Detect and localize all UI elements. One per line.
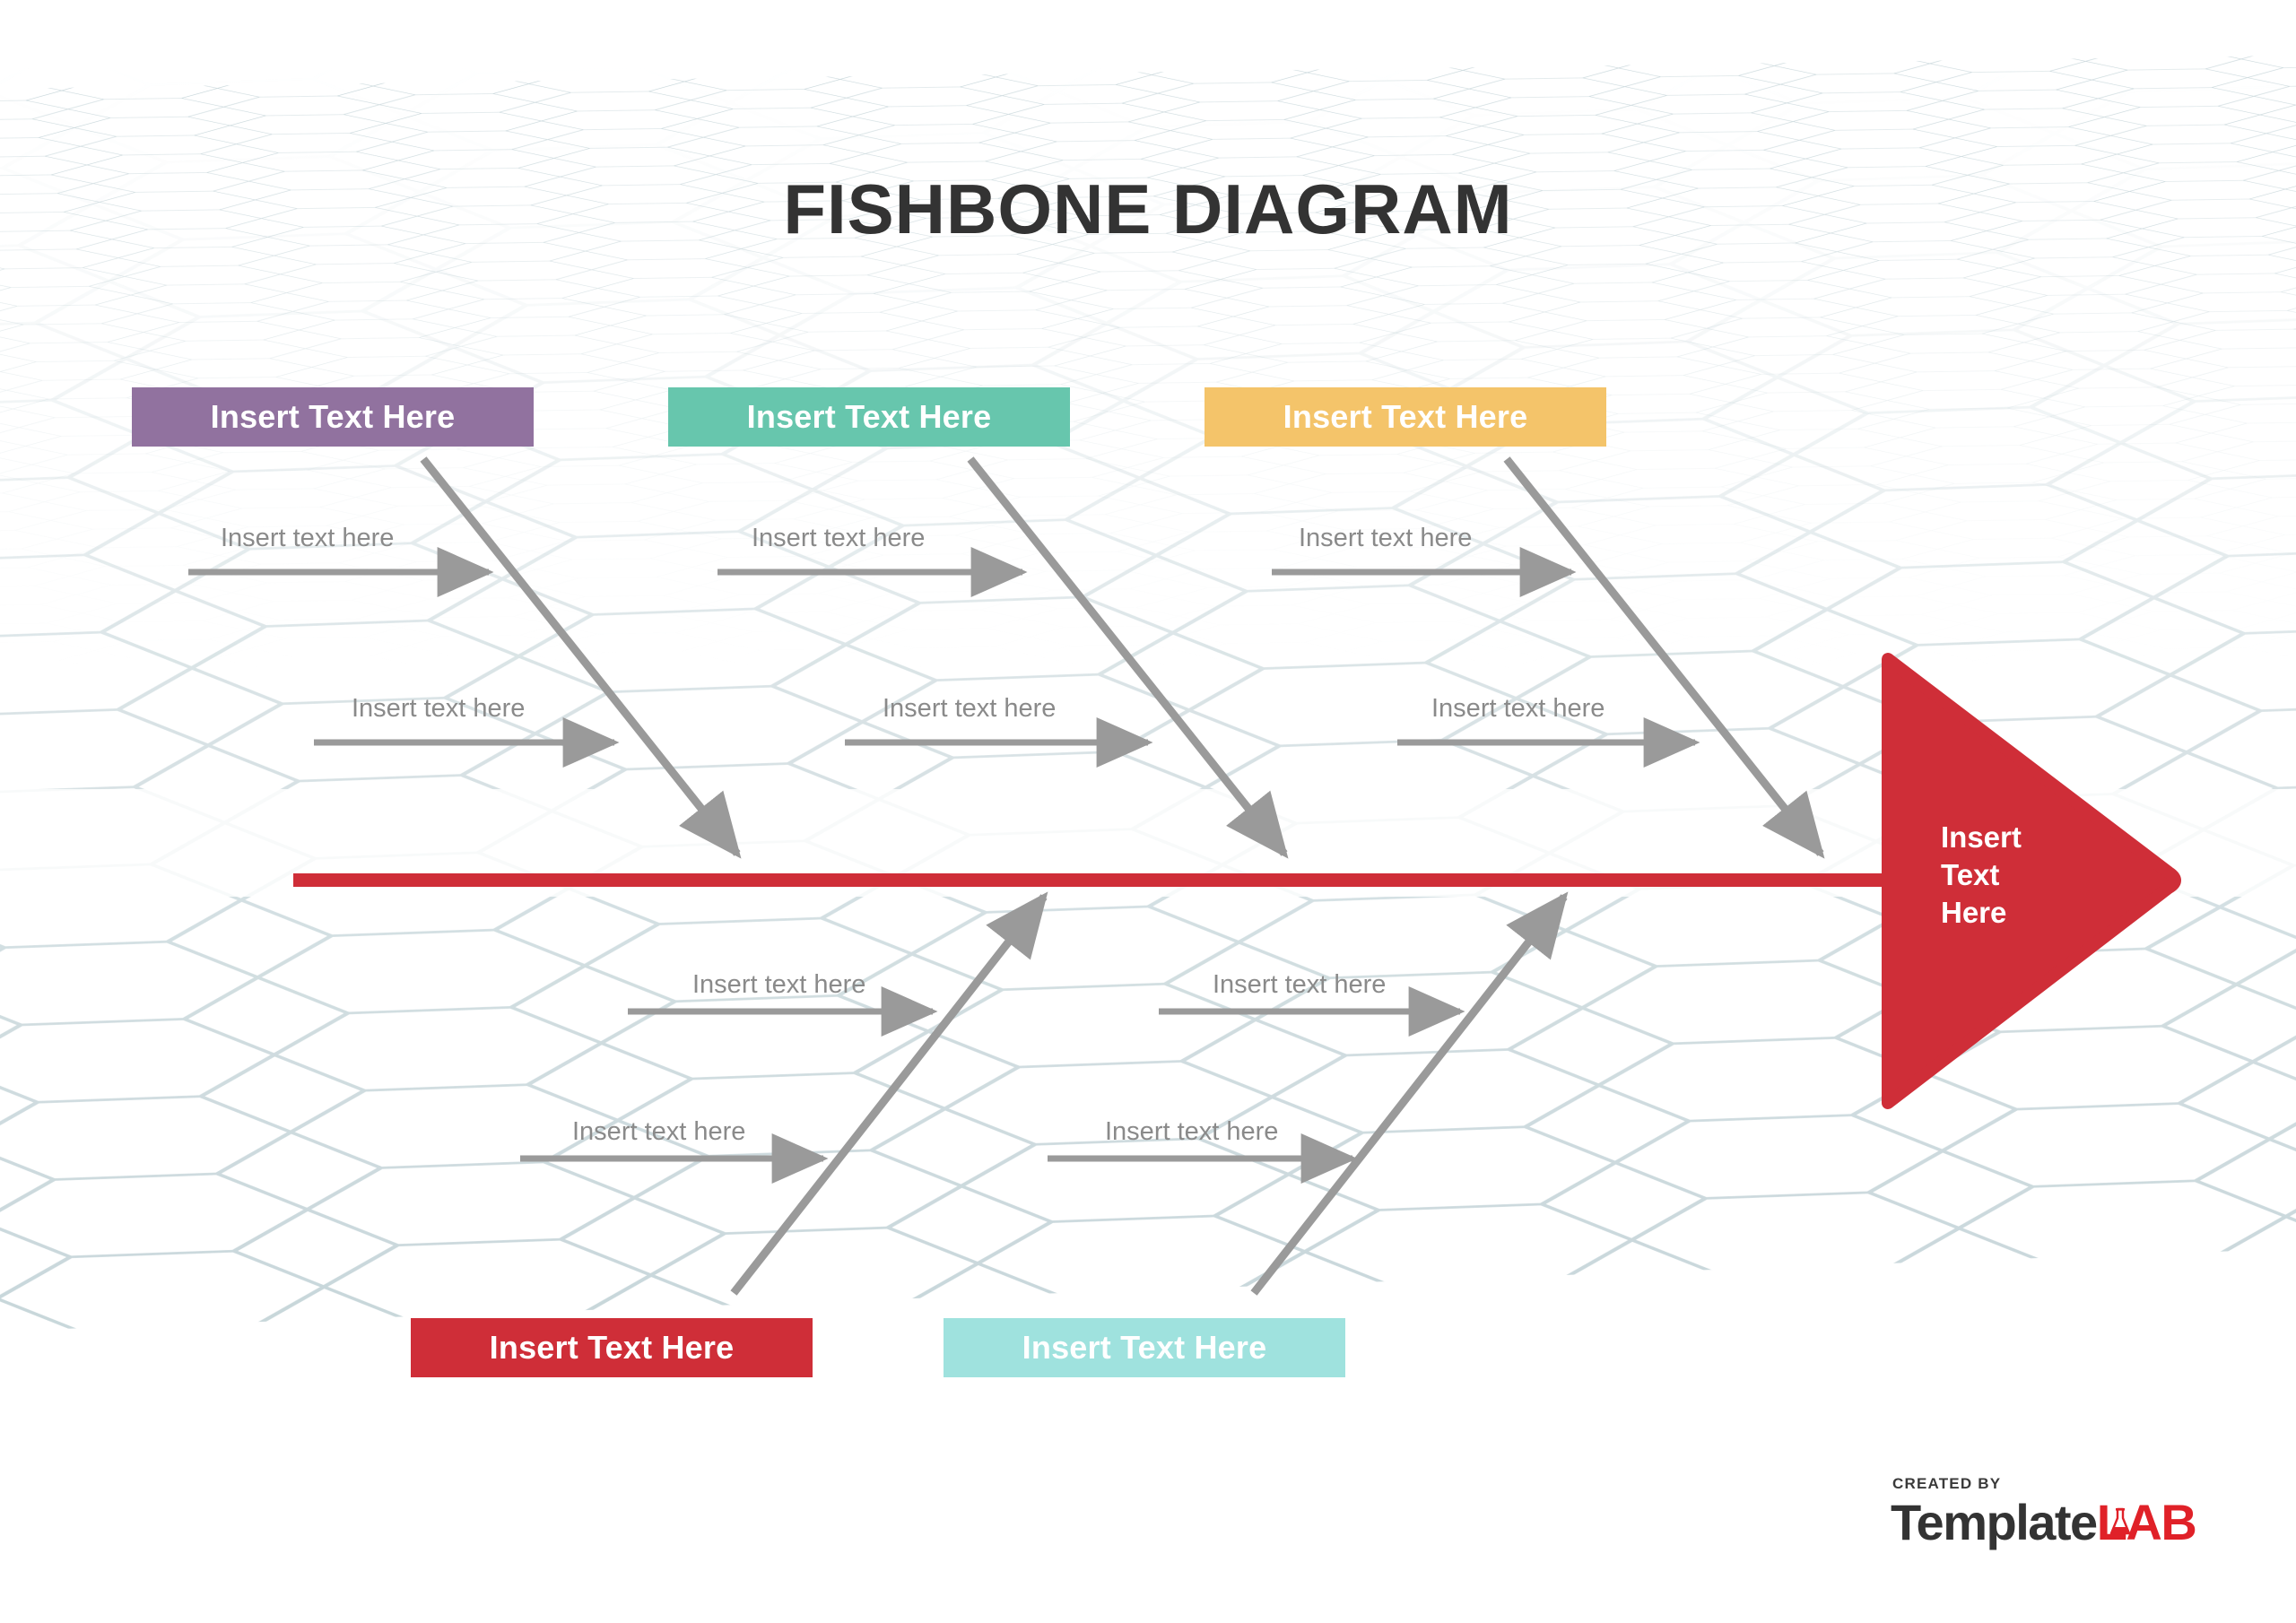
page-title: FISHBONE DIAGRAM	[0, 169, 2296, 250]
fish-head-line-1[interactable]: Insert	[1941, 819, 2022, 856]
sub-cause-label-bottom-1[interactable]: Insert text here	[692, 970, 865, 1000]
category-box-bottom-1[interactable]: Insert Text Here	[411, 1318, 813, 1377]
logo-wordmark: TemplateLAB	[1891, 1493, 2196, 1551]
category-label: Insert Text Here	[1022, 1329, 1267, 1367]
sub-cause-label-top-3[interactable]: Insert text here	[752, 524, 925, 553]
bone-top-3	[1507, 459, 1821, 854]
category-label: Insert Text Here	[1283, 398, 1528, 436]
category-label: Insert Text Here	[211, 398, 456, 436]
category-box-top-3[interactable]: Insert Text Here	[1205, 387, 1606, 447]
category-box-top-1[interactable]: Insert Text Here	[132, 387, 534, 447]
fishbone-diagram-page: FISHBONE DIAGRAM Insert Text Here Insert…	[0, 0, 2296, 1623]
spine-line	[293, 873, 1899, 887]
templatelab-logo: CREATED BY TemplateLAB	[1891, 1475, 2187, 1565]
fish-head-line-3[interactable]: Here	[1941, 894, 2006, 932]
bone-top-1	[423, 459, 737, 854]
sub-cause-label-bottom-3[interactable]: Insert text here	[1213, 970, 1386, 1000]
logo-created-by-label: CREATED BY	[1892, 1475, 2001, 1493]
sub-cause-label-top-5[interactable]: Insert text here	[1299, 524, 1472, 553]
category-box-bottom-2[interactable]: Insert Text Here	[944, 1318, 1345, 1377]
sub-cause-label-top-4[interactable]: Insert text here	[883, 694, 1056, 724]
flask-icon	[2109, 1507, 2132, 1538]
sub-cause-label-top-1[interactable]: Insert text here	[221, 524, 394, 553]
category-label: Insert Text Here	[747, 398, 992, 436]
bone-top-2	[970, 459, 1284, 854]
sub-cause-label-top-6[interactable]: Insert text here	[1431, 694, 1605, 724]
bone-bottom-1	[734, 897, 1044, 1293]
category-label: Insert Text Here	[490, 1329, 735, 1367]
sub-cause-label-bottom-4[interactable]: Insert text here	[1105, 1117, 1278, 1147]
logo-template-text: Template	[1891, 1494, 2097, 1550]
fish-head-arrow	[1888, 659, 2175, 1103]
bone-bottom-2	[1254, 897, 1564, 1293]
sub-cause-label-bottom-2[interactable]: Insert text here	[572, 1117, 745, 1147]
category-box-top-2[interactable]: Insert Text Here	[668, 387, 1070, 447]
fish-head-line-2[interactable]: Text	[1941, 856, 1999, 894]
sub-cause-label-top-2[interactable]: Insert text here	[352, 694, 525, 724]
